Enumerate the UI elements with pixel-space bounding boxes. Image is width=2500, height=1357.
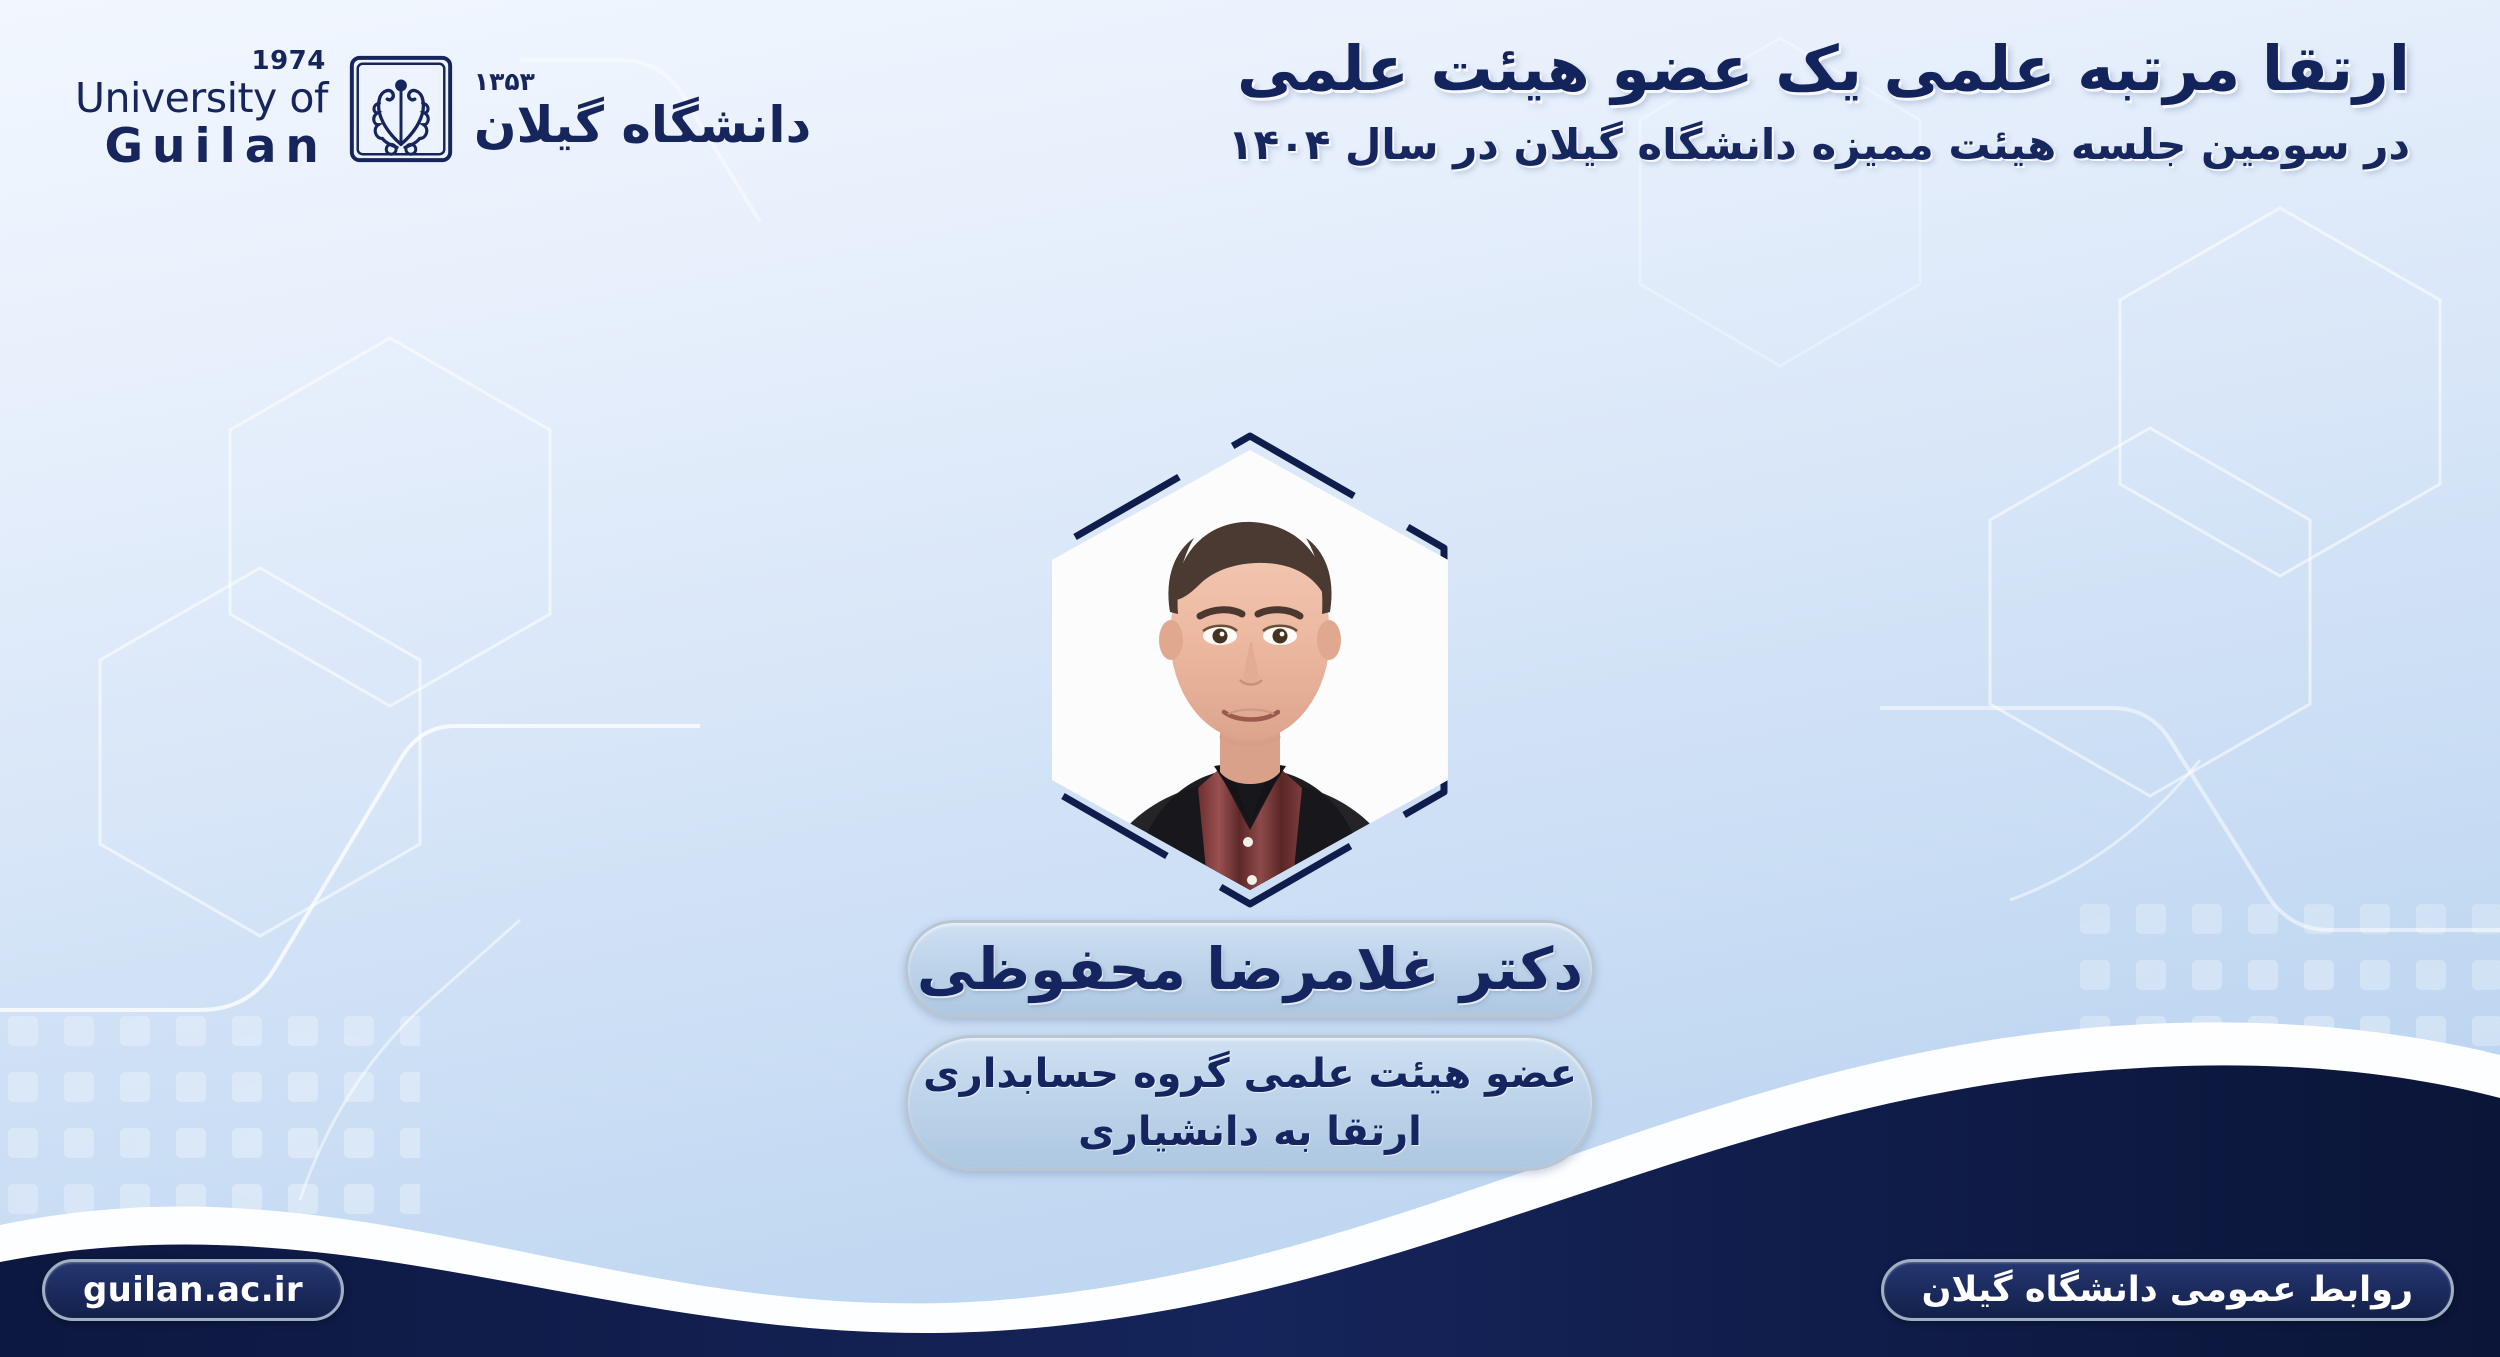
poster-header: 1974 University of Guilan (0, 0, 2500, 300)
logo-name-fa: دانشگاه گیلان (474, 100, 811, 150)
logo-english-text: 1974 University of Guilan (75, 48, 328, 170)
university-logo: 1974 University of Guilan (75, 48, 811, 170)
website-badge[interactable]: guilan.ac.ir (42, 1259, 344, 1321)
logo-year-en: 1974 (75, 48, 326, 74)
page-title: ارتقا مرتبه علمی یک عضو هیئت علمی (1228, 30, 2410, 108)
person-name-badge: دکتر غلامرضا محفوظی (905, 920, 1595, 1018)
title-block: ارتقا مرتبه علمی یک عضو هیئت علمی در سوم… (1228, 30, 2410, 172)
portrait-frame (1030, 430, 1470, 910)
person-name: دکتر غلامرضا محفوظی (917, 935, 1583, 1003)
publisher-badge: روابط عمومی دانشگاه گیلان (1881, 1259, 2454, 1321)
website-url: guilan.ac.ir (83, 1270, 303, 1310)
person-role-line1: عضو هیئت علمی گروه حسابداری (923, 1047, 1577, 1101)
logo-line1-en: University of (75, 78, 328, 119)
logo-year-fa: ۱۳۵۳ (474, 69, 811, 94)
guilan-emblem-icon (342, 50, 460, 168)
logo-persian-text: ۱۳۵۳ دانشگاه گیلان (474, 69, 811, 150)
poster-root: 1974 University of Guilan (0, 0, 2500, 1357)
logo-line2-en: Guilan (75, 123, 328, 170)
page-subtitle: در سومین جلسه هیئت ممیزه دانشگاه گیلان د… (1228, 118, 2410, 173)
publisher-name: روابط عمومی دانشگاه گیلان (1922, 1270, 2413, 1310)
person-role-badge: عضو هیئت علمی گروه حسابداری ارتقا به دان… (905, 1035, 1595, 1171)
person-role-line2: ارتقا به دانشیاری (1078, 1105, 1422, 1159)
